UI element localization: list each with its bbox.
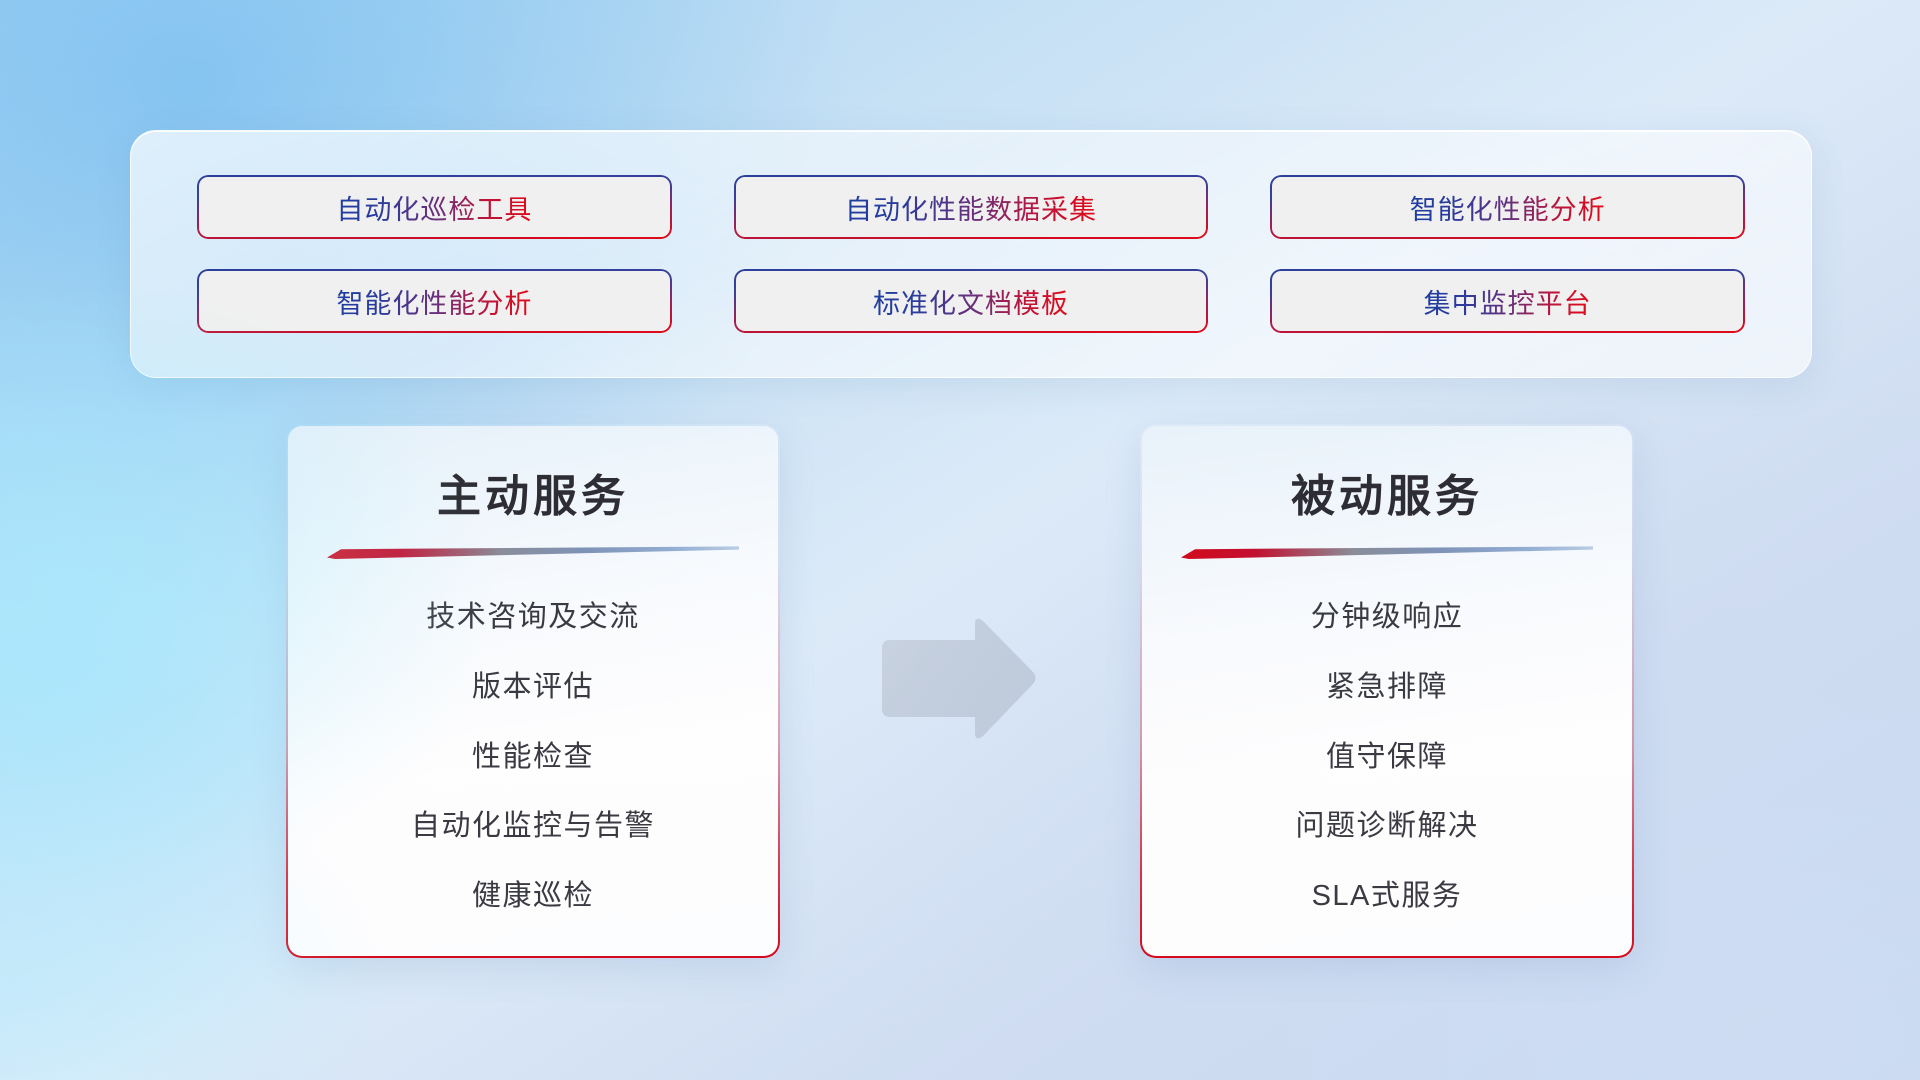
- title-underline-accent: [327, 546, 739, 559]
- card-body: 被动服务 分钟级响应 紧急排障 值守保障: [1142, 426, 1632, 956]
- capability-panel: 自动化巡检工具 自动化性能数据采集 智能化性能分析 智能化性能分析 标准化文档模…: [130, 130, 1812, 378]
- list-item: 版本评估: [472, 663, 594, 705]
- slide-canvas: 自动化巡检工具 自动化性能数据采集 智能化性能分析 智能化性能分析 标准化文档模…: [0, 0, 1920, 1080]
- capability-pill[interactable]: 标准化文档模板: [734, 269, 1209, 333]
- list-item: 技术咨询及交流: [426, 593, 640, 635]
- capability-pill-label: 智能化性能分析: [336, 282, 532, 321]
- capability-pill[interactable]: 自动化性能数据采集: [734, 175, 1209, 239]
- capability-pill-label: 集中监控平台: [1424, 282, 1592, 321]
- list-item: 性能检查: [472, 733, 594, 775]
- capability-row-1: 自动化巡检工具 自动化性能数据采集 智能化性能分析: [197, 175, 1745, 239]
- list-item: 值守保障: [1326, 733, 1448, 775]
- title-underline-accent: [1181, 546, 1593, 559]
- capability-pill-label: 标准化文档模板: [873, 282, 1069, 321]
- service-list: 分钟级响应 紧急排障 值守保障 问题诊断解决 SLA式服务: [1176, 585, 1598, 930]
- capability-pill[interactable]: 集中监控平台: [1270, 269, 1745, 333]
- capability-pill-label: 智能化性能分析: [1410, 188, 1606, 227]
- right-arrow-icon: [878, 614, 1038, 744]
- capability-row-2: 智能化性能分析 标准化文档模板 集中监控平台: [197, 269, 1745, 333]
- card-body: 主动服务 技术咨询及交流 版本评估 性能检查: [288, 426, 778, 956]
- list-item: 紧急排障: [1326, 663, 1448, 705]
- card-title: 主动服务: [437, 460, 629, 524]
- service-card-reactive[interactable]: 被动服务 分钟级响应 紧急排障 值守保障: [1140, 424, 1634, 958]
- list-item: 自动化监控与告警: [411, 802, 655, 844]
- capability-pill-label: 自动化巡检工具: [336, 188, 532, 227]
- list-item: 健康巡检: [472, 872, 594, 914]
- service-list: 技术咨询及交流 版本评估 性能检查 自动化监控与告警 健康巡检: [322, 585, 744, 930]
- list-item: 分钟级响应: [1311, 593, 1464, 635]
- capability-pill[interactable]: 智能化性能分析: [1270, 175, 1745, 239]
- list-item: SLA式服务: [1312, 872, 1463, 914]
- card-title: 被动服务: [1291, 460, 1483, 524]
- service-card-proactive[interactable]: 主动服务 技术咨询及交流 版本评估 性能检查: [286, 424, 780, 958]
- capability-pill-label: 自动化性能数据采集: [845, 188, 1097, 227]
- list-item: 问题诊断解决: [1295, 802, 1478, 844]
- capability-pill[interactable]: 自动化巡检工具: [197, 175, 672, 239]
- capability-pill[interactable]: 智能化性能分析: [197, 269, 672, 333]
